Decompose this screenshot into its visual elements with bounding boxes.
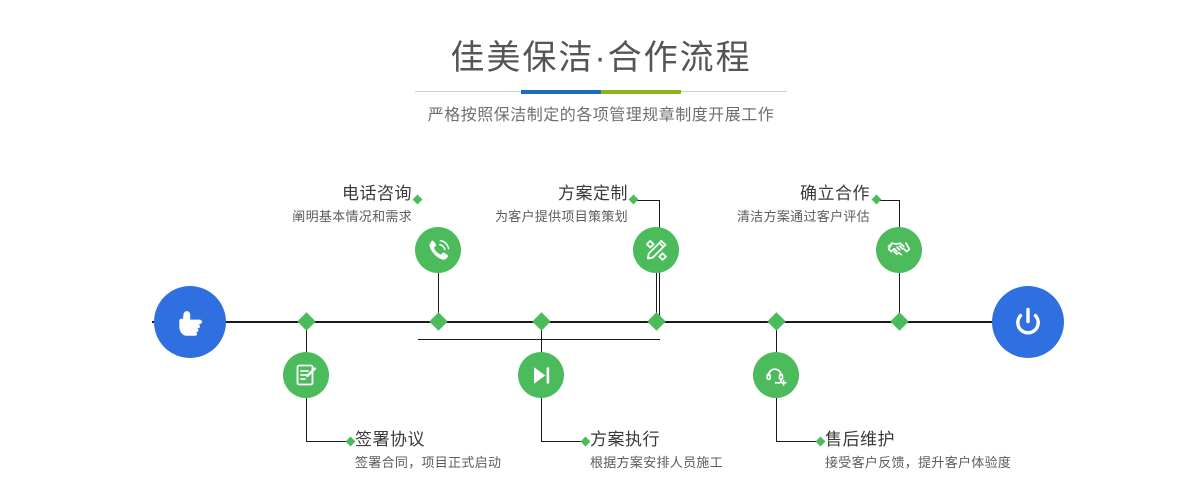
timeline-end-node[interactable] [992,286,1064,358]
step-2-label: 签署协议 签署合同，项目正式启动 [355,428,501,474]
play-execute-icon [529,363,554,388]
step-5-title: 确立合作 [610,182,870,206]
pencil-ruler-icon [644,238,669,263]
timeline-axis [152,321,1050,323]
connector-horizontal-step-1 [418,339,660,340]
axis-diamond-step-3 [647,312,665,330]
step-4-title: 方案执行 [590,428,723,452]
connector-vertical-step-6-label [776,398,777,442]
phone-call-icon [425,237,451,263]
timeline-start-node[interactable] [154,286,226,358]
step-1-icon-badge[interactable] [415,227,461,273]
divider-segment-green [601,90,681,94]
label-dot-step-4 [581,437,591,447]
step-5-icon-badge[interactable] [876,227,922,273]
step-6-icon-badge[interactable] [753,352,799,398]
flow-diagram-page: 佳美保洁·合作流程 严格按照保洁制定的各项管理规章制度开展工作 [0,0,1202,502]
page-title: 佳美保洁·合作流程 [0,36,1202,80]
label-dot-step-5 [872,195,882,205]
axis-diamond-step-6 [767,312,785,330]
axis-diamond-step-4 [532,312,550,330]
handshake-icon [886,237,912,263]
step-4-desc: 根据方案安排人员施工 [590,452,723,474]
label-dot-step-6 [816,437,826,447]
step-3-title: 方案定制 [368,182,628,206]
step-5-desc: 清洁方案通过客户评估 [610,206,870,228]
step-6-label: 售后维护 接受客户反馈，提升客户体验度 [825,428,1011,474]
step-2-desc: 签署合同，项目正式启动 [355,452,501,474]
connector-vertical-step-2-label [306,398,307,442]
connector-horizontal-step-6 [776,441,820,442]
step-4-icon-badge[interactable] [518,352,564,398]
page-header: 佳美保洁·合作流程 严格按照保洁制定的各项管理规章制度开展工作 [0,0,1202,140]
contract-sign-icon [294,363,319,388]
connector-horizontal-step-2 [306,441,350,442]
label-dot-step-2 [346,437,356,447]
title-divider [415,90,787,94]
axis-diamond-step-5 [890,312,908,330]
step-6-title: 售后维护 [825,428,1011,452]
hand-pointing-icon [170,302,210,342]
connector-horizontal-step-3 [634,200,660,201]
step-3-icon-badge[interactable] [633,227,679,273]
power-icon [1008,302,1048,342]
step-6-desc: 接受客户反馈，提升客户体验度 [825,452,1011,474]
customer-service-add-icon [764,363,789,388]
axis-diamond-step-2 [297,312,315,330]
axis-diamond-step-1 [429,312,447,330]
connector-vertical-step-4-label [541,398,542,442]
process-timeline: 电话咨询 阐明基本情况和需求 签署协议 签署合同，项目正式启动 [0,140,1202,502]
step-2-icon-badge[interactable] [283,352,329,398]
step-4-label: 方案执行 根据方案安排人员施工 [590,428,723,474]
connector-horizontal-step-4 [541,441,585,442]
step-5-label: 确立合作 清洁方案通过客户评估 [610,182,870,228]
step-3-desc: 为客户提供项目策策划 [368,206,628,228]
page-subtitle: 严格按照保洁制定的各项管理规章制度开展工作 [0,104,1202,128]
step-2-title: 签署协议 [355,428,501,452]
step-3-label: 方案定制 为客户提供项目策策划 [368,182,628,228]
divider-segment-blue [521,90,601,94]
